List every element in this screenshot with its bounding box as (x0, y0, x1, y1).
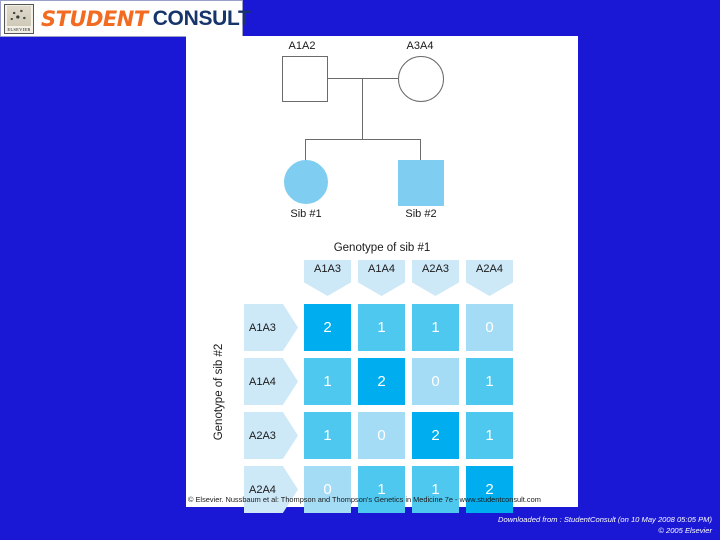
row-header-a2a3: A2A3 (244, 412, 298, 459)
elsevier-wordmark: ELSEVIER (5, 26, 33, 33)
elsevier-logo-icon: ELSEVIER (4, 4, 34, 34)
sib2-label: Sib #2 (391, 208, 451, 220)
column-axis-title: Genotype of sib #1 (186, 242, 578, 254)
father-symbol (282, 56, 328, 102)
row-axis-title: Genotype of sib #2 (213, 312, 225, 472)
matrix-cell-r3-c3: 2 (412, 412, 459, 459)
matrix-grid: 2110120110210112 (304, 304, 513, 513)
column-header-row: A1A3 A1A4 A2A3 A2A4 (304, 260, 513, 296)
logo-text-student: STUDENT (41, 7, 148, 31)
studentconsult-logo-banner: ELSEVIER STUDENT CONSULT (0, 0, 243, 37)
matrix-cell-r4-c1: 0 (304, 466, 351, 513)
pedigree-diagram: A1A2 A3A4 Sib #1 Sib #2 (186, 36, 578, 236)
matrix-cell-r3-c1: 1 (304, 412, 351, 459)
sib2-stem (420, 139, 421, 161)
sib1-stem (305, 139, 306, 161)
matrix-cell-r4-c2: 1 (358, 466, 405, 513)
matrix-cell-r2-c3: 0 (412, 358, 459, 405)
elsevier-tree-emblem (7, 6, 31, 26)
panel-credit-line: © Elsevier. Nussbaum et al: Thompson and… (188, 495, 578, 504)
matrix-cell-r1-c2: 1 (358, 304, 405, 351)
matrix-cell-r3-c2: 0 (358, 412, 405, 459)
matrix-cell-r2-c4: 1 (466, 358, 513, 405)
column-header-a2a3: A2A3 (412, 260, 459, 296)
download-stamp: Downloaded from : StudentConsult (on 10 … (498, 514, 712, 536)
copyright-line: © 2005 Elsevier (498, 525, 712, 536)
matrix-cell-r4-c4: 2 (466, 466, 513, 513)
ibd-sharing-matrix: Genotype of sib #1 Genotype of sib #2 A1… (186, 236, 578, 507)
row-header-a1a3: A1A3 (244, 304, 298, 351)
matrix-cell-r2-c1: 1 (304, 358, 351, 405)
mother-symbol (398, 56, 444, 102)
matrix-cell-r2-c2: 2 (358, 358, 405, 405)
father-genotype-label: A1A2 (272, 40, 332, 52)
matrix-cell-r4-c3: 1 (412, 466, 459, 513)
row-header-column: A1A3 A1A4 A2A3 A2A4 (244, 304, 298, 513)
sib1-label: Sib #1 (276, 208, 336, 220)
logo-text-consult: CONSULT (153, 7, 251, 31)
row-header-a2a4: A2A4 (244, 466, 298, 513)
descent-line (362, 78, 363, 140)
matrix-cell-r1-c4: 0 (466, 304, 513, 351)
mother-genotype-label: A3A4 (390, 40, 450, 52)
matrix-cell-r1-c1: 2 (304, 304, 351, 351)
sib1-symbol (284, 160, 328, 204)
column-header-a1a4: A1A4 (358, 260, 405, 296)
download-source-line: Downloaded from : StudentConsult (on 10 … (498, 514, 712, 525)
sib2-symbol (398, 160, 444, 206)
row-header-a1a4: A1A4 (244, 358, 298, 405)
column-header-a1a3: A1A3 (304, 260, 351, 296)
matrix-cell-r1-c3: 1 (412, 304, 459, 351)
matrix-cell-r3-c4: 1 (466, 412, 513, 459)
sibship-line (305, 139, 421, 140)
figure-panel: A1A2 A3A4 Sib #1 Sib #2 Genotype of sib … (186, 36, 578, 507)
column-header-a2a4: A2A4 (466, 260, 513, 296)
